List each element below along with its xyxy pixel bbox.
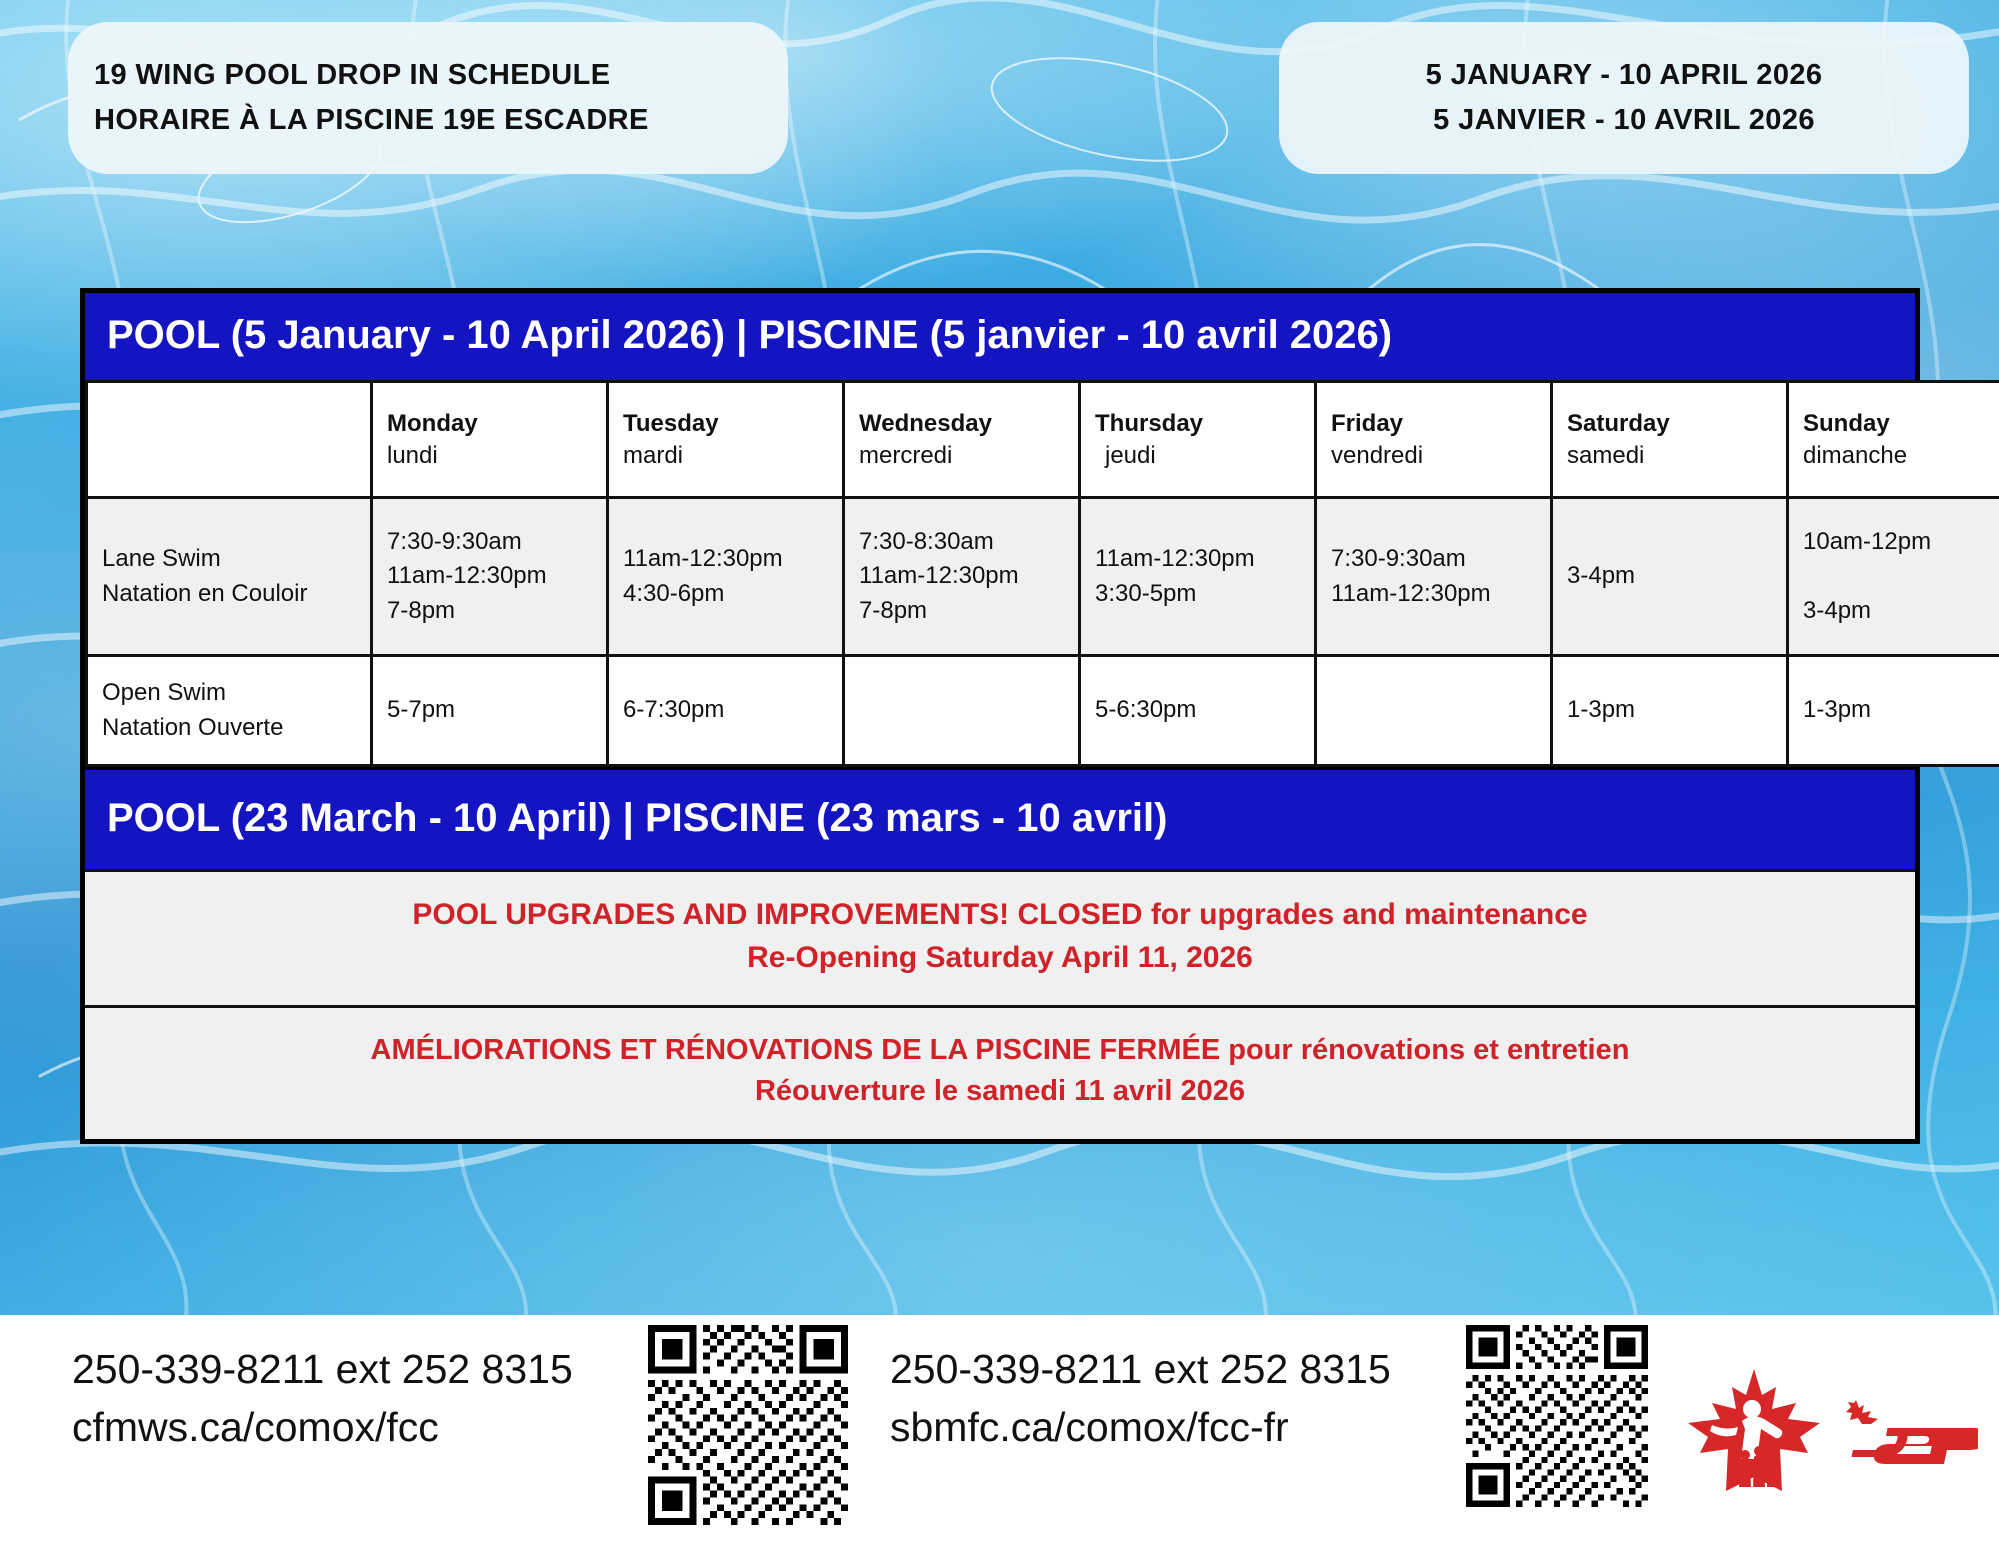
closure-notice-fr: AMÉLIORATIONS ET RÉNOVATIONS DE LA PISCI…: [85, 1005, 1915, 1138]
lane-swim-tuesday: 11am-12:30pm 4:30-6pm: [608, 498, 844, 656]
date-range-pill: 5 JANUARY - 10 APRIL 2026 5 JANVIER - 10…: [1279, 22, 1969, 174]
row-label-open-swim: Open Swim Natation Ouverte: [87, 656, 372, 766]
lane-swim-saturday: 3-4pm: [1552, 498, 1788, 656]
pool-closure-band: POOL (23 March - 10 April) | PISCINE (23…: [85, 767, 1915, 869]
header-corner-blank: [87, 382, 372, 498]
lane-swim-sunday: 10am-12pm 3-4pm: [1788, 498, 1999, 656]
poster-title-en: 19 WING POOL DROP IN SCHEDULE: [94, 53, 762, 98]
open-swim-thursday: 5-6:30pm: [1080, 656, 1316, 766]
schedule-card: POOL (5 January - 10 April 2026) | PISCI…: [80, 288, 1920, 1144]
table-header-row: Monday lundi Tuesday mardi Wednesday mer…: [87, 382, 1999, 498]
day-label-fr: vendredi: [1331, 440, 1536, 472]
header-day-thursday: Thursday jeudi: [1080, 382, 1316, 498]
day-label-fr: lundi: [387, 440, 592, 472]
header-day-tuesday: Tuesday mardi: [608, 382, 844, 498]
day-label-en: Saturday: [1567, 408, 1772, 440]
header-day-sunday: Sunday dimanche: [1788, 382, 1999, 498]
pool-schedule-band-primary: POOL (5 January - 10 April 2026) | PISCI…: [85, 293, 1915, 380]
schedule-table: Monday lundi Tuesday mardi Wednesday mer…: [85, 380, 1999, 767]
open-swim-friday: [1316, 656, 1552, 766]
table-row-lane-swim: Lane Swim Natation en Couloir 7:30-9:30a…: [87, 498, 1999, 656]
day-label-en: Friday: [1331, 408, 1536, 440]
header-day-wednesday: Wednesday mercredi: [844, 382, 1080, 498]
closure-notice-en: POOL UPGRADES AND IMPROVEMENTS! CLOSED f…: [85, 869, 1915, 1005]
lane-swim-thursday: 11am-12:30pm 3:30-5pm: [1080, 498, 1316, 656]
open-swim-sunday: 1-3pm: [1788, 656, 1999, 766]
qr-code-french[interactable]: [1466, 1325, 1648, 1507]
day-label-en: Tuesday: [623, 408, 828, 440]
psp-logo-icon: [1838, 1398, 1978, 1476]
day-label-fr: jeudi: [1095, 440, 1300, 472]
day-label-en: Wednesday: [859, 408, 1064, 440]
date-range-fr: 5 JANVIER - 10 AVRIL 2026: [1305, 98, 1943, 143]
header-day-saturday: Saturday samedi: [1552, 382, 1788, 498]
day-label-fr: samedi: [1567, 440, 1772, 472]
day-label-fr: mardi: [623, 440, 828, 472]
day-label-en: Thursday: [1095, 408, 1300, 440]
contact-info-french: 250-339-8211 ext 252 8315 sbmfc.ca/comox…: [890, 1340, 1391, 1456]
poster-background: 19 WING POOL DROP IN SCHEDULE HORAIRE À …: [0, 0, 1999, 1315]
title-pill-english-french: 19 WING POOL DROP IN SCHEDULE HORAIRE À …: [68, 22, 788, 174]
date-range-en: 5 JANUARY - 10 APRIL 2026: [1305, 53, 1943, 98]
header-day-friday: Friday vendredi: [1316, 382, 1552, 498]
poster-title-fr: HORAIRE À LA PISCINE 19E ESCADRE: [94, 98, 762, 143]
qr-code-english[interactable]: [648, 1325, 848, 1525]
open-swim-saturday: 1-3pm: [1552, 656, 1788, 766]
header-day-monday: Monday lundi: [372, 382, 608, 498]
cfmws-maple-leaf-family-logo-icon: [1684, 1365, 1824, 1495]
day-label-en: Monday: [387, 408, 592, 440]
lane-swim-monday: 7:30-9:30am 11am-12:30pm 7-8pm: [372, 498, 608, 656]
day-label-en: Sunday: [1803, 408, 1999, 440]
table-row-open-swim: Open Swim Natation Ouverte 5-7pm 6-7:30p…: [87, 656, 1999, 766]
row-label-lane-swim: Lane Swim Natation en Couloir: [87, 498, 372, 656]
open-swim-monday: 5-7pm: [372, 656, 608, 766]
day-label-fr: dimanche: [1803, 440, 1999, 472]
open-swim-tuesday: 6-7:30pm: [608, 656, 844, 766]
lane-swim-wednesday: 7:30-8:30am 11am-12:30pm 7-8pm: [844, 498, 1080, 656]
day-label-fr: mercredi: [859, 440, 1064, 472]
open-swim-wednesday: [844, 656, 1080, 766]
lane-swim-friday: 7:30-9:30am 11am-12:30pm: [1316, 498, 1552, 656]
contact-info-english: 250-339-8211 ext 252 8315 cfmws.ca/comox…: [72, 1340, 573, 1456]
